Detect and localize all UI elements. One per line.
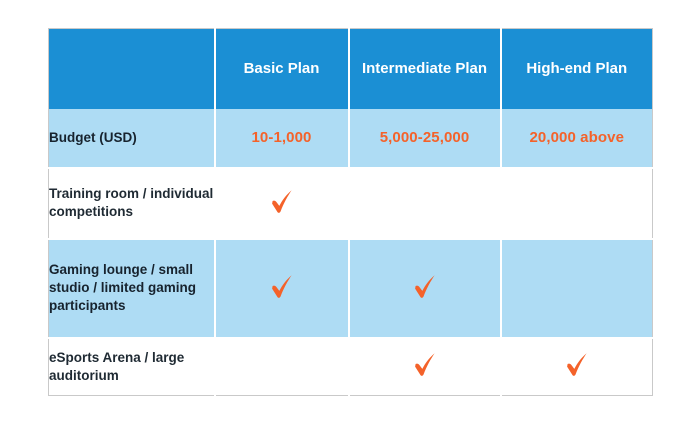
row-label-gaming-lounge: Gaming lounge / small studio / limited g…	[49, 239, 215, 338]
table-row-gaming-lounge: Gaming lounge / small studio / limited g…	[49, 239, 653, 338]
check-mark-icon	[412, 272, 438, 300]
column-header-intermediate-plan: Intermediate Plan	[349, 29, 501, 109]
check-mark-icon	[412, 350, 438, 378]
table-row-esports-arena: eSports Arena / large auditorium	[49, 338, 653, 396]
cell-budget-basic: 10-1,000	[215, 109, 349, 168]
cell-esports-intermediate	[349, 338, 501, 396]
row-label-training-room: Training room / individual competitions	[49, 168, 215, 239]
table-row-training-room: Training room / individual competitions	[49, 168, 653, 239]
row-label-esports-arena: eSports Arena / large auditorium	[49, 338, 215, 396]
plan-comparison-table: Basic Plan Intermediate Plan High-end Pl…	[48, 28, 653, 396]
cell-esports-basic	[215, 338, 349, 396]
check-mark-icon	[269, 272, 295, 300]
table-row-budget: Budget (USD) 10-1,000 5,000-25,000 20,00…	[49, 109, 653, 168]
cell-esports-highend	[501, 338, 653, 396]
table-header-row: Basic Plan Intermediate Plan High-end Pl…	[49, 29, 653, 109]
table-header: Basic Plan Intermediate Plan High-end Pl…	[49, 29, 653, 109]
cell-gaming-highend	[501, 239, 653, 338]
cell-training-highend	[501, 168, 653, 239]
cell-gaming-intermediate	[349, 239, 501, 338]
row-label-budget: Budget (USD)	[49, 109, 215, 168]
column-header-high-end-plan: High-end Plan	[501, 29, 653, 109]
check-mark-icon	[564, 350, 590, 378]
cell-budget-highend: 20,000 above	[501, 109, 653, 168]
cell-gaming-basic	[215, 239, 349, 338]
cell-training-intermediate	[349, 168, 501, 239]
check-mark-icon	[269, 187, 295, 215]
cell-budget-intermediate: 5,000-25,000	[349, 109, 501, 168]
table-body: Budget (USD) 10-1,000 5,000-25,000 20,00…	[49, 109, 653, 396]
column-header-basic-plan: Basic Plan	[215, 29, 349, 109]
page-root: Basic Plan Intermediate Plan High-end Pl…	[0, 0, 700, 431]
column-header-feature	[49, 29, 215, 109]
cell-training-basic	[215, 168, 349, 239]
